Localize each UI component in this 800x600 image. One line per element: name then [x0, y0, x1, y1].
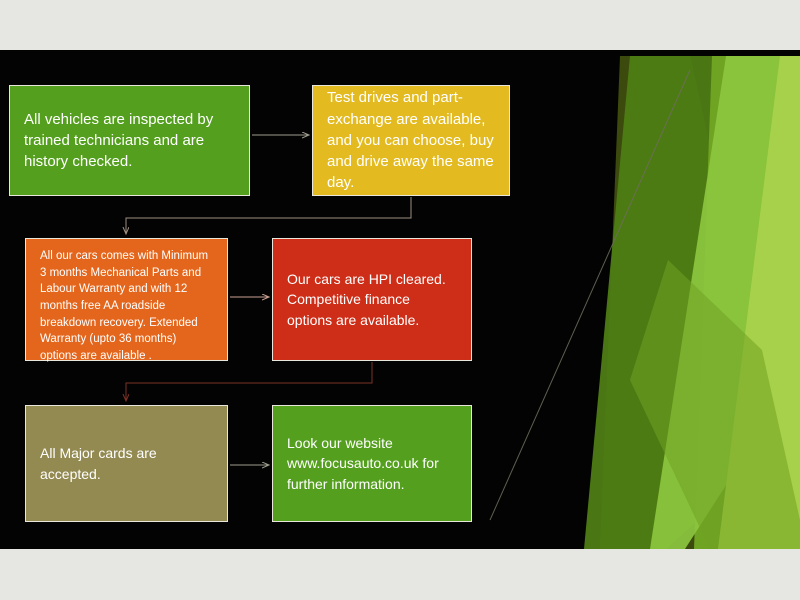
flow-box-cards-text: All Major cards are accepted.	[26, 443, 227, 484]
flow-box-cards[interactable]: All Major cards are accepted.	[25, 405, 228, 522]
flow-box-testdrive-text: Test drives and part-exchange are availa…	[313, 87, 509, 193]
slide-canvas: All vehicles are inspected by trained te…	[0, 50, 800, 549]
green-facet-graphic	[480, 50, 800, 549]
slide-stage: All vehicles are inspected by trained te…	[0, 0, 800, 600]
flow-box-warranty[interactable]: All our cars comes with Minimum 3 months…	[25, 238, 228, 361]
letterbox-bottom	[0, 549, 800, 600]
flow-box-warranty-text: All our cars comes with Minimum 3 months…	[26, 239, 227, 365]
flow-box-website-text: Look our website www.focusauto.co.uk for…	[273, 433, 471, 494]
letterbox-top	[0, 0, 800, 50]
connector-testdrive-to-warranty	[126, 197, 411, 234]
flow-box-inspection[interactable]: All vehicles are inspected by trained te…	[9, 85, 250, 196]
connector-hpi-to-cards	[126, 362, 372, 401]
flow-box-inspection-text: All vehicles are inspected by trained te…	[10, 109, 249, 173]
flow-box-testdrive[interactable]: Test drives and part-exchange are availa…	[312, 85, 510, 196]
flow-box-hpi[interactable]: Our cars are HPI cleared. Competitive fi…	[272, 238, 472, 361]
flow-box-website[interactable]: Look our website www.focusauto.co.uk for…	[272, 405, 472, 522]
flow-box-hpi-text: Our cars are HPI cleared. Competitive fi…	[273, 269, 471, 330]
